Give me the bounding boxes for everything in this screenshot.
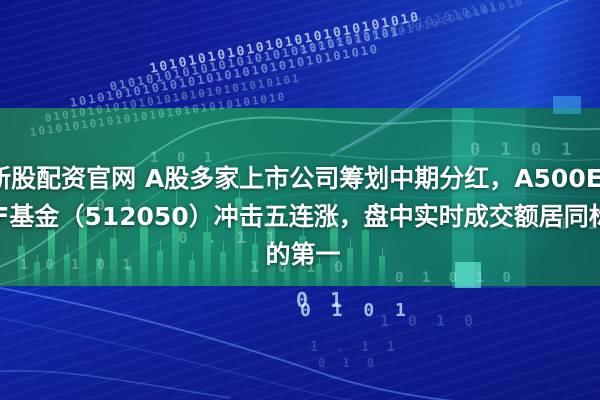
news-banner: 1010101010101010101010101010010101010101… (0, 0, 600, 400)
teal-bar (553, 96, 581, 114)
headline-text: 新股配资官网 A股多家上市公司筹划中期分红，A500ETF基金（512050）冲… (0, 160, 600, 274)
bottom-swoosh-icon (0, 280, 600, 400)
